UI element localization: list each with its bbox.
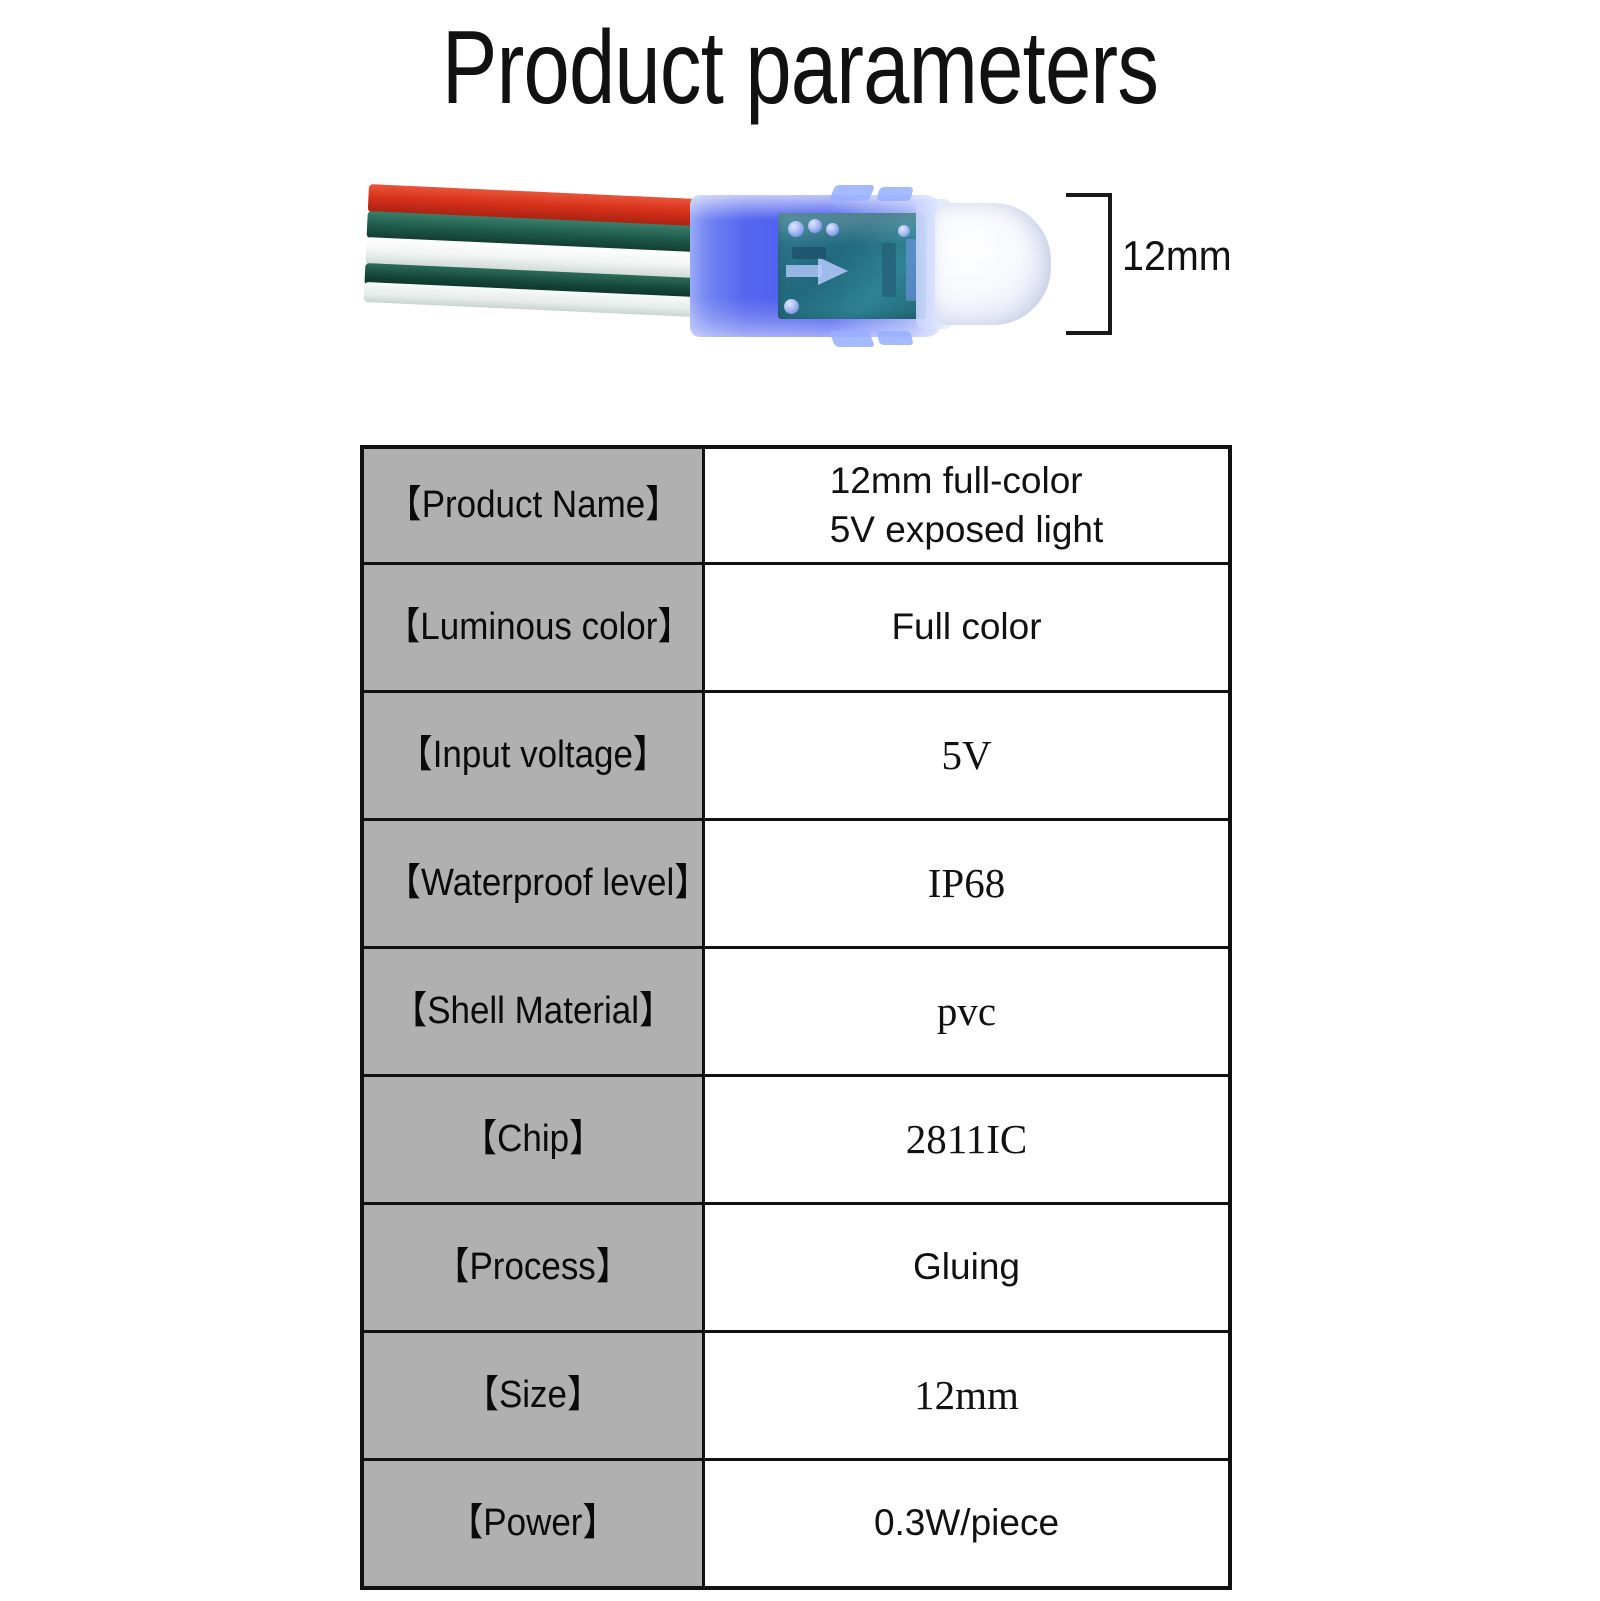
spec-label-process: 【Process】 xyxy=(362,1204,704,1332)
housing-tab-top-right xyxy=(876,187,913,201)
pcb-component xyxy=(906,239,916,301)
product-image: 12mm xyxy=(360,165,1220,400)
pcb-component xyxy=(792,247,826,259)
led-dome xyxy=(935,203,1051,325)
product-parameters-table: 【Product Name】 12mm full-color 5V expose… xyxy=(360,445,1232,1590)
dimension-bracket-icon xyxy=(1066,193,1112,335)
spec-label-text: 【Power】 xyxy=(448,1502,617,1546)
spec-label-text: 【Process】 xyxy=(435,1246,631,1290)
spec-value-shell-material: pvc xyxy=(704,948,1231,1076)
solder-pad xyxy=(788,221,804,237)
pcb-direction-arrow-icon xyxy=(818,257,848,285)
solder-pad xyxy=(808,219,822,233)
solder-pad xyxy=(898,225,910,237)
spec-label-size: 【Size】 xyxy=(362,1332,704,1460)
spec-label-text: 【Chip】 xyxy=(462,1118,604,1162)
spec-label-luminous-color: 【Luminous color】 xyxy=(362,564,704,692)
circuit-board xyxy=(778,213,926,319)
housing-tab-bottom-right xyxy=(876,331,913,345)
table-row: 【Luminous color】 Full color xyxy=(362,564,1230,692)
spec-label-power: 【Power】 xyxy=(362,1460,704,1589)
spec-label-text: 【Input voltage】 xyxy=(398,734,668,778)
table-row: 【Chip】 2811IC xyxy=(362,1076,1230,1204)
table-row: 【Power】 0.3W/piece xyxy=(362,1460,1230,1589)
housing-tab-bottom-left xyxy=(829,331,875,347)
table-row: 【Process】 Gluing xyxy=(362,1204,1230,1332)
page-title: Product parameters xyxy=(160,14,1440,123)
solder-pad xyxy=(784,299,799,314)
lead-wires-group xyxy=(363,178,699,323)
table-row: 【Product Name】 12mm full-color 5V expose… xyxy=(362,447,1230,564)
table-row: 【Shell Material】 pvc xyxy=(362,948,1230,1076)
spec-table-body: 【Product Name】 12mm full-color 5V expose… xyxy=(362,447,1230,1588)
spec-label-text: 【Product Name】 xyxy=(386,484,679,528)
dimension-label: 12mm xyxy=(1122,235,1232,277)
table-row: 【Size】 12mm xyxy=(362,1332,1230,1460)
blue-translucent-housing xyxy=(682,185,950,345)
spec-value-waterproof-level: IP68 xyxy=(704,820,1231,948)
table-row: 【Input voltage】 5V xyxy=(362,692,1230,820)
spec-value-process: Gluing xyxy=(704,1204,1231,1332)
pcb-component xyxy=(882,243,896,297)
spec-value-luminous-color: Full color xyxy=(704,564,1231,692)
bracket-tick-top xyxy=(1066,193,1112,197)
spec-value-power: 0.3W/piece xyxy=(704,1460,1231,1589)
spec-label-product-name: 【Product Name】 xyxy=(362,447,704,564)
spec-label-text: 【Shell Material】 xyxy=(392,990,674,1034)
pcb-arrow-tail xyxy=(786,265,822,277)
spec-label-chip: 【Chip】 xyxy=(362,1076,704,1204)
table-row: 【Waterproof level】 IP68 xyxy=(362,820,1230,948)
spec-label-text: 【Waterproof level】 xyxy=(386,862,709,906)
spec-label-input-voltage: 【Input voltage】 xyxy=(362,692,704,820)
spec-value-size: 12mm xyxy=(704,1332,1231,1460)
solder-pad xyxy=(826,223,839,236)
spec-value-chip: 2811IC xyxy=(704,1076,1231,1204)
spec-value-input-voltage: 5V xyxy=(704,692,1231,820)
bracket-tick-bottom xyxy=(1066,331,1112,335)
spec-value-text: 12mm full-color 5V exposed light xyxy=(830,457,1104,553)
spec-label-shell-material: 【Shell Material】 xyxy=(362,948,704,1076)
spec-value-product-name: 12mm full-color 5V exposed light xyxy=(704,447,1231,564)
spec-label-text: 【Size】 xyxy=(464,1374,602,1418)
spec-label-text: 【Luminous color】 xyxy=(385,606,692,650)
bracket-vertical-line xyxy=(1108,193,1112,335)
spec-label-waterproof-level: 【Waterproof level】 xyxy=(362,820,704,948)
housing-tab-top-left xyxy=(829,185,875,201)
